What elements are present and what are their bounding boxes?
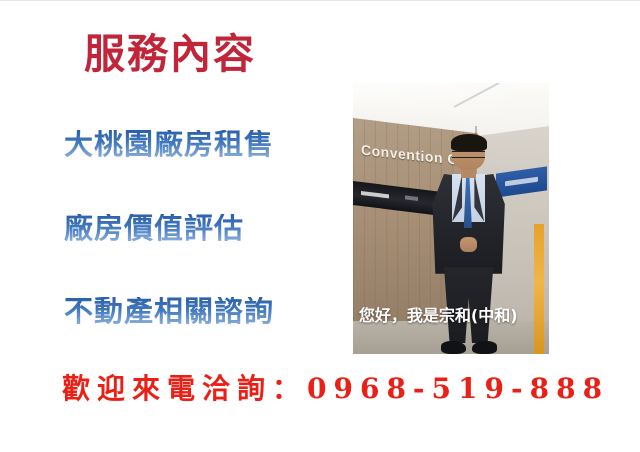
person-hair — [451, 134, 487, 151]
photo-caption: 您好，我是宗和(中和) — [359, 308, 518, 324]
service-item-2: 廠房價值評估 — [64, 214, 244, 243]
person-hands — [460, 237, 476, 252]
photo-yellow-strip — [534, 224, 544, 354]
person-shoe-left — [441, 341, 466, 354]
contact-phone-line: 歡迎來電洽詢：0968-519-888 — [62, 375, 609, 403]
slide-canvas: 服務內容 大桃園廠房租售 廠房價值評估 不動產相關諮詢 歡迎來電洽詢：0968-… — [0, 0, 640, 452]
service-item-1: 大桃園廠房租售 — [64, 130, 274, 159]
page-title: 服務內容 — [84, 34, 256, 75]
person-shoe-right — [472, 341, 497, 354]
glasses-icon — [452, 151, 485, 159]
service-item-3: 不動產相關諮詢 — [64, 297, 274, 326]
agent-photo: Convention Ce 您好，我是宗和(中和) — [353, 83, 549, 354]
